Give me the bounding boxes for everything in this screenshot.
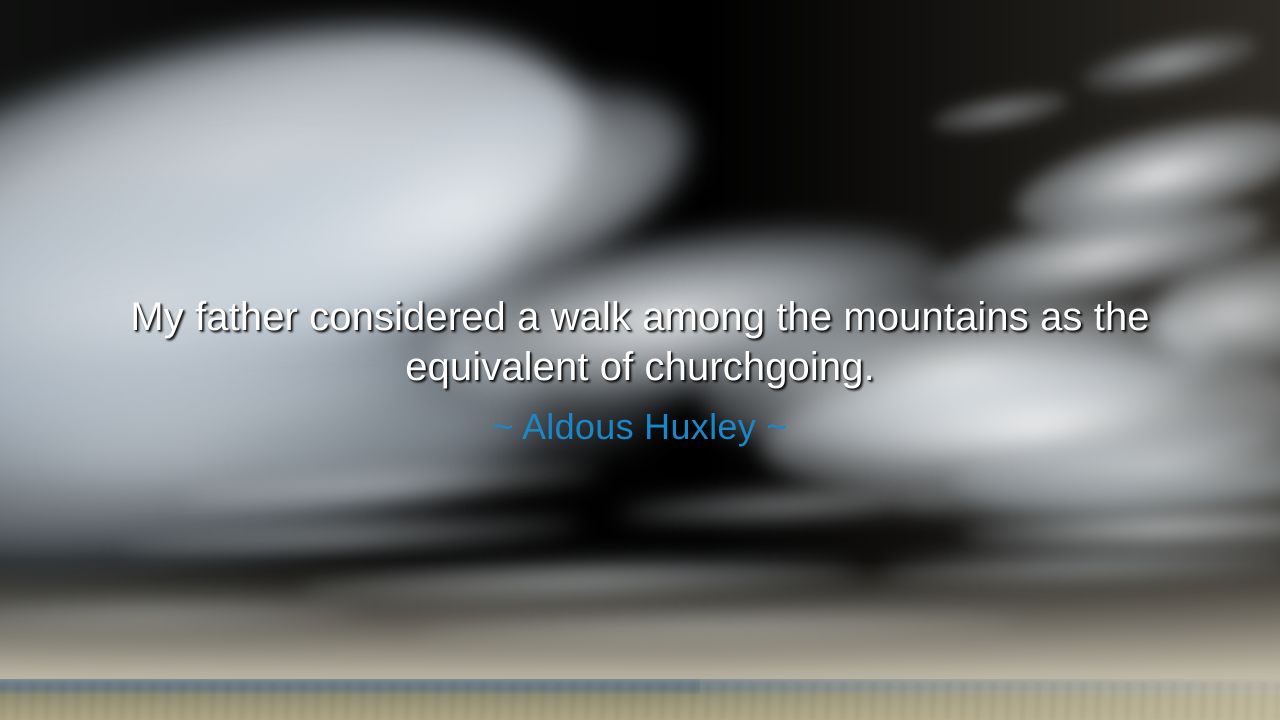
ground-texture [0, 682, 1280, 720]
quote-attribution: ~ Aldous Huxley ~ [0, 406, 1280, 448]
quote-text: My father considered a walk among the mo… [0, 292, 1280, 392]
quote-block: My father considered a walk among the mo… [0, 292, 1280, 448]
quote-wallpaper: My father considered a walk among the mo… [0, 0, 1280, 720]
